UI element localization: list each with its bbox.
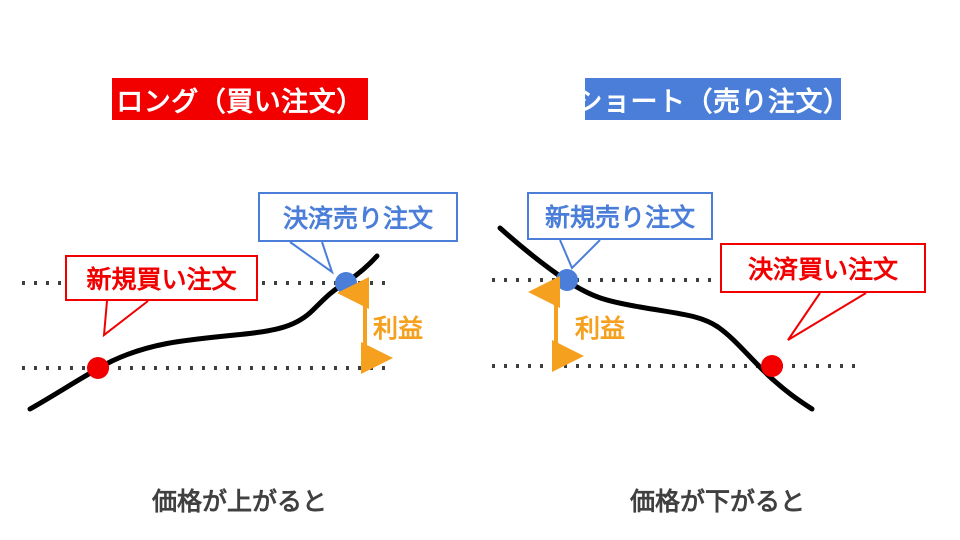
callout-new-buy-order: 新規買い注文 (65, 255, 258, 301)
banner-long: ロング（買い注文） (112, 78, 368, 120)
banner-short: ショート（売り注文） (585, 78, 841, 120)
short-exit-callout-tail (788, 293, 866, 340)
slide-canvas: ロング（買い注文） ショート（売り注文） (0, 0, 960, 540)
callout-close-buy-order: 決済買い注文 (720, 243, 926, 293)
short-entry-marker (556, 269, 578, 291)
long-exit-marker (335, 272, 357, 294)
callout-new-sell-order: 新規売り注文 (527, 192, 713, 240)
profit-label-long: 利益 (373, 309, 423, 345)
caption-long-line1: 価格が上がると (152, 486, 327, 519)
caption-short: 価格が下がると 利益を得られる (630, 420, 805, 540)
short-exit-marker (761, 355, 783, 377)
callout-close-sell-order: 決済売り注文 (258, 192, 458, 242)
long-entry-callout-tail (104, 301, 148, 335)
profit-label-short: 利益 (575, 309, 625, 345)
long-entry-marker (87, 357, 109, 379)
caption-long: 価格が上がると 利益を得られる (152, 420, 327, 540)
caption-short-line1: 価格が下がると (630, 486, 805, 519)
long-exit-callout-tail (290, 242, 332, 272)
short-entry-callout-tail (560, 240, 600, 268)
